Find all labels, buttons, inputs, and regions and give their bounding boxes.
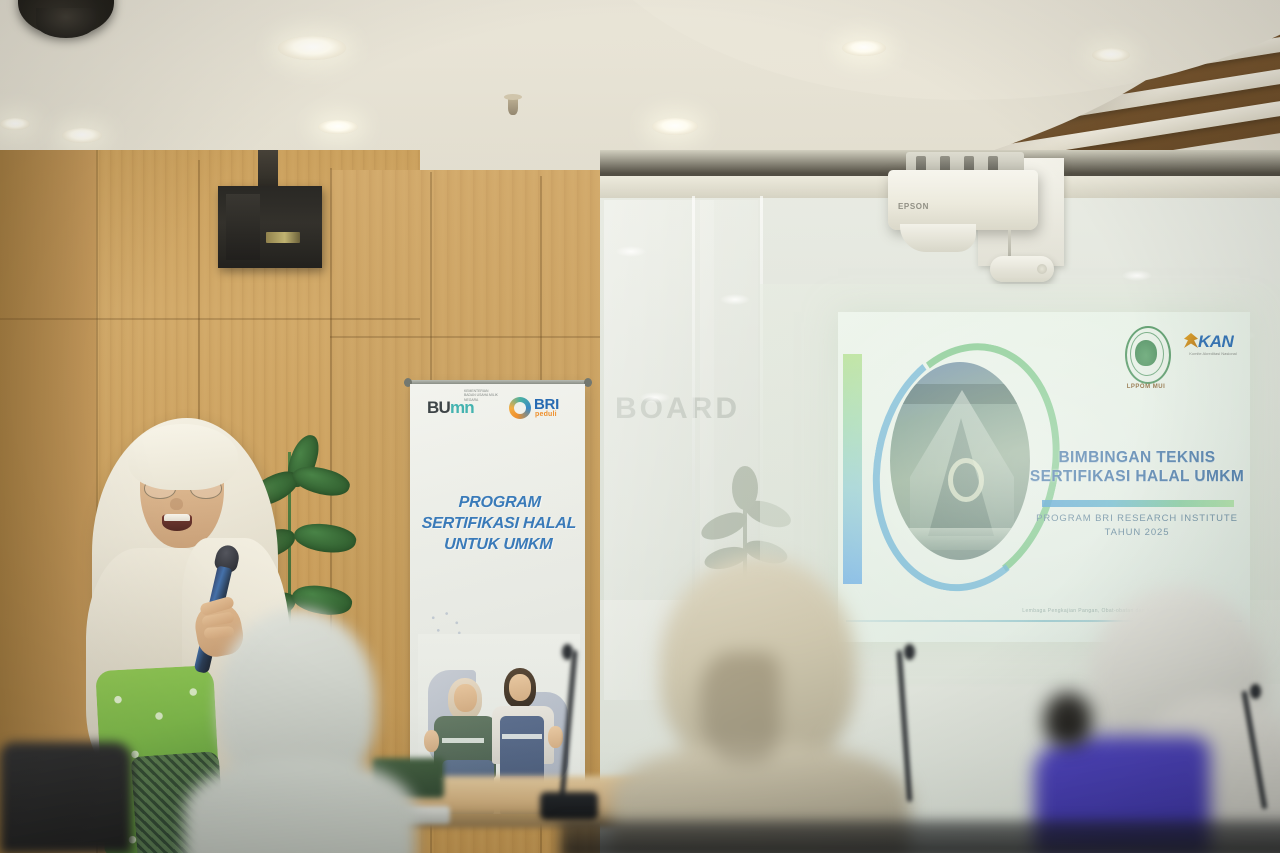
kan-logo-icon: KAN Komite Akreditasi Nasional xyxy=(1184,332,1242,372)
slide-subtitle-line2: TAHUN 2025 xyxy=(1028,526,1246,540)
wall-speaker-led xyxy=(266,232,300,243)
ceiling-speaker-cylinder xyxy=(990,256,1054,282)
slide-subtitle: PROGRAM BRI RESEARCH INSTITUTE TAHUN 202… xyxy=(1028,512,1246,540)
slide-title-line1: BIMBINGAN TEKNIS xyxy=(1028,448,1246,467)
ceiling-downlight xyxy=(1092,48,1130,62)
ceiling-downlight xyxy=(652,118,698,135)
kan-logo-text: KAN xyxy=(1198,332,1233,352)
bumn-logo-bu: BU xyxy=(427,398,450,417)
ceiling-downlight xyxy=(318,120,358,134)
wood-panel-seam xyxy=(0,318,420,320)
slide-subtitle-line1: PROGRAM BRI RESEARCH INSTITUTE xyxy=(1028,512,1246,526)
wall-speaker xyxy=(218,186,322,268)
banner-headline-line3: UNTUK UMKM xyxy=(419,534,578,555)
dome-security-camera-lens xyxy=(36,8,96,38)
lppom-mui-label: LPPOM MUI xyxy=(1110,384,1182,390)
kan-bird-icon xyxy=(1184,333,1198,348)
bumn-logo-subtext: KEMENTERIAN BADAN USAHA MILIK NEGARA xyxy=(464,389,498,402)
banner-headline-line2: SERTIFIKASI HALAL xyxy=(420,513,579,534)
slide-accent-bar xyxy=(843,354,862,584)
presenter-nose xyxy=(170,498,183,510)
roll-up-banner: BUmn KEMENTERIAN BADAN USAHA MILIK NEGAR… xyxy=(410,384,585,814)
kan-logo-subtext: Komite Akreditasi Nasional xyxy=(1186,351,1240,356)
projector-brand-label: EPSON xyxy=(898,202,929,211)
microphone-capsule xyxy=(562,644,573,660)
microphone-base xyxy=(540,792,598,820)
slide-gradient-divider xyxy=(1042,500,1234,507)
wood-panel-seam xyxy=(330,336,620,338)
glass-reflected-light xyxy=(1122,270,1152,281)
bri-peduli-text: peduli xyxy=(535,411,557,418)
audience-member-background xyxy=(1036,692,1104,782)
ceiling-projector xyxy=(888,170,1038,230)
glass-reflected-light xyxy=(640,392,670,403)
fire-sprinkler xyxy=(508,98,518,115)
glass-reflected-light xyxy=(616,246,646,257)
slide-building-photo xyxy=(890,362,1030,560)
microphone-capsule xyxy=(1250,684,1261,699)
ceiling-downlight xyxy=(62,128,102,143)
banner-headline-line1: PROGRAM xyxy=(420,492,579,513)
presenter-hijab-front xyxy=(128,424,238,490)
ceiling-downlight xyxy=(0,118,30,130)
audience-member-center xyxy=(604,556,914,853)
audience-chair xyxy=(0,742,132,853)
glass-reflected-light xyxy=(720,294,750,305)
presenter-teeth xyxy=(164,514,190,521)
seminar-room-photo: BOARD EPSON xyxy=(0,0,1280,853)
microphone-capsule xyxy=(904,644,915,660)
slide-title: BIMBINGAN TEKNIS SERTIFIKASI HALAL UMKM xyxy=(1028,448,1246,486)
banner-headline: PROGRAM SERTIFIKASI HALAL UNTUK UMKM xyxy=(419,492,579,555)
bri-peduli-logo: BRI peduli xyxy=(509,396,571,422)
lppom-mui-seal-icon xyxy=(1125,326,1167,380)
wall-speaker-mount xyxy=(258,150,278,190)
ceiling-downlight xyxy=(842,40,886,56)
slide-title-line2: SERTIFIKASI HALAL UMKM xyxy=(1028,467,1246,486)
audience-member-left xyxy=(184,608,414,853)
projector-lens-housing xyxy=(900,224,976,252)
ceiling-downlight xyxy=(278,36,346,60)
foreground-table-shadow xyxy=(560,820,1280,853)
bri-swoosh-icon xyxy=(509,397,531,419)
slide-oval-image-group xyxy=(874,342,1044,578)
